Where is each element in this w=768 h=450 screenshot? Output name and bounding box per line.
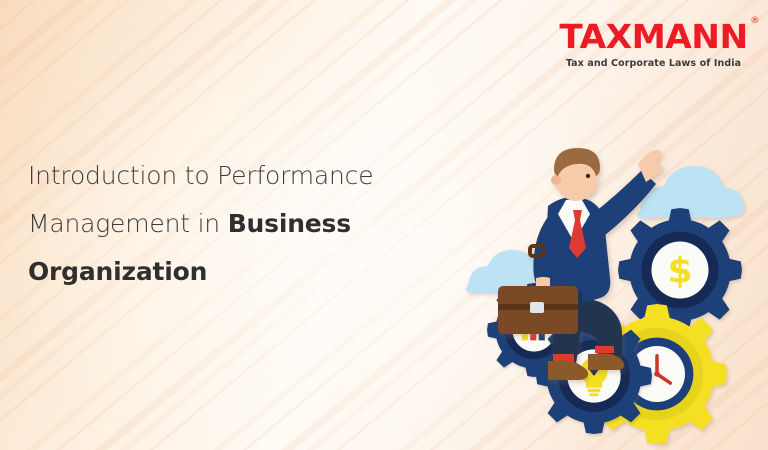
hero-illustration: $ — [452, 118, 768, 450]
title-line-2-normal: Management in — [28, 209, 228, 238]
registered-trademark-icon: ® — [750, 17, 759, 26]
promo-banner: TAXMANN® Tax and Corporate Laws of India… — [0, 0, 768, 450]
logo-tagline: Tax and Corporate Laws of India — [563, 59, 744, 69]
businessman-ear — [551, 175, 561, 185]
businessman-eye — [586, 174, 590, 178]
businessman-back-sock — [595, 346, 614, 353]
dollar-icon: $ — [667, 250, 692, 291]
title-line-1: Introduction to Performance — [28, 161, 373, 190]
taxmann-logo[interactable]: TAXMANN® Tax and Corporate Laws of India — [563, 20, 744, 69]
logo-wordmark: TAXMANN® — [559, 20, 747, 53]
page-title: Introduction to Performance Management i… — [28, 152, 458, 296]
gear-dollar: $ — [618, 208, 742, 332]
logo-wordmark-text: TAXMANN — [559, 17, 747, 56]
title-line-3-bold: Organization — [28, 257, 207, 286]
title-line-2-bold: Business — [228, 209, 351, 238]
svg-text:$: $ — [667, 250, 692, 291]
